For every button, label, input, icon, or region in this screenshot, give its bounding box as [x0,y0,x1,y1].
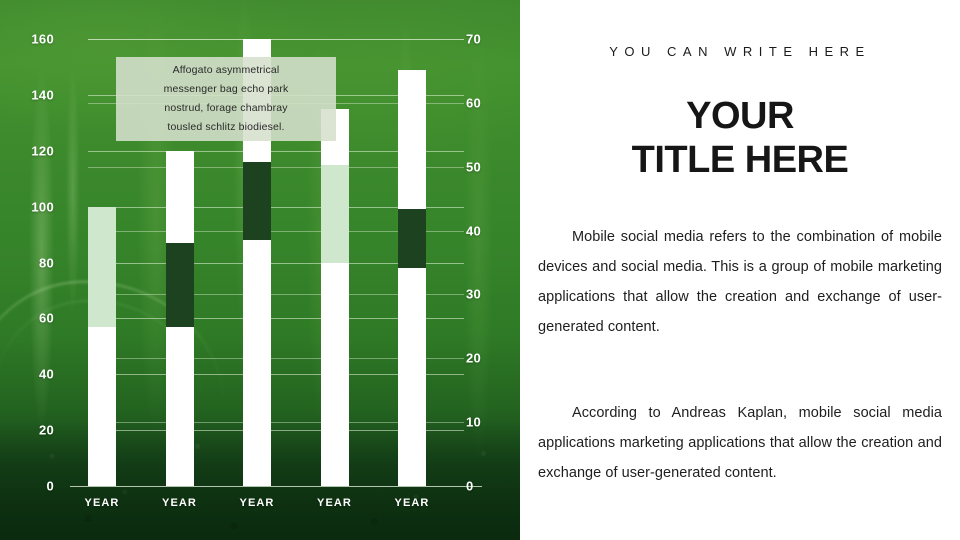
y-axis-right-tick-20: 20 [466,352,481,365]
bar-2-segment-2-dark-green [166,243,194,327]
y-axis-right-tick-70: 70 [466,33,481,46]
y-axis-left-tick-140: 140 [31,88,54,101]
x-axis-label-2: YEAR [135,497,225,509]
title-line-1: YOUR [520,94,960,138]
annotation-line-3: nostrud, forage chambray [164,102,287,114]
y-axis-right-tick-30: 30 [466,288,481,301]
bar-4[interactable] [321,109,349,486]
y-axis-right-tick-10: 10 [466,416,481,429]
y-axis-left-tick-80: 80 [39,256,54,269]
bar-3-segment-1-white [243,240,271,486]
x-axis-label-5: YEAR [367,497,457,509]
bar-1-segment-1-white [88,327,116,486]
chart-panel: 160140120100806040200706050403020100YEAR… [0,0,520,540]
bar-5-segment-1-white [398,268,426,486]
annotation-callout: Affogato asymmetrical messenger bag echo… [116,57,336,141]
gridline-right-70 [88,39,464,40]
y-axis-right-tick-60: 60 [466,96,481,109]
bar-4-segment-2-light-green [321,165,349,263]
annotation-text: Affogato asymmetrical messenger bag echo… [154,61,299,137]
y-axis-right-tick-40: 40 [466,224,481,237]
body-paragraph-2: According to Andreas Kaplan, mobile soci… [538,398,942,488]
y-axis-right-tick-50: 50 [466,160,481,173]
body-paragraph-1: Mobile social media refers to the combin… [538,222,942,342]
bar-5-segment-2-dark-green [398,209,426,268]
annotation-line-1: Affogato asymmetrical [173,64,280,76]
y-axis-left-tick-60: 60 [39,312,54,325]
bar-2[interactable] [166,151,194,486]
annotation-line-4: tousled schlitz biodiesel. [167,121,284,133]
y-axis-left-tick-20: 20 [39,424,54,437]
page-title: YOUR TITLE HERE [520,94,960,182]
bar-2-segment-1-white [166,327,194,486]
x-axis-label-1: YEAR [57,497,147,509]
bar-1-segment-2-light-green [88,207,116,327]
y-axis-left-tick-160: 160 [31,33,54,46]
bar-4-segment-1-white [321,263,349,487]
bar-2-segment-3-white [166,151,194,243]
y-axis-left-tick-40: 40 [39,368,54,381]
annotation-line-2: messenger bag echo park [164,83,289,95]
bar-5[interactable] [398,70,426,486]
title-line-2: TITLE HERE [520,138,960,182]
y-axis-left-tick-120: 120 [31,144,54,157]
y-axis-left-tick-100: 100 [31,200,54,213]
slide-canvas: 160140120100806040200706050403020100YEAR… [0,0,960,540]
text-panel: YOU CAN WRITE HERE YOUR TITLE HERE Mobil… [520,0,960,540]
x-axis-baseline [70,486,482,487]
x-axis-label-3: YEAR [212,497,302,509]
x-axis-label-4: YEAR [290,497,380,509]
bar-1[interactable] [88,207,116,486]
bar-5-segment-3-white [398,70,426,210]
y-axis-left-tick-0: 0 [46,480,54,493]
bar-3-segment-2-dark-green [243,162,271,240]
eyebrow-label: YOU CAN WRITE HERE [520,44,960,59]
